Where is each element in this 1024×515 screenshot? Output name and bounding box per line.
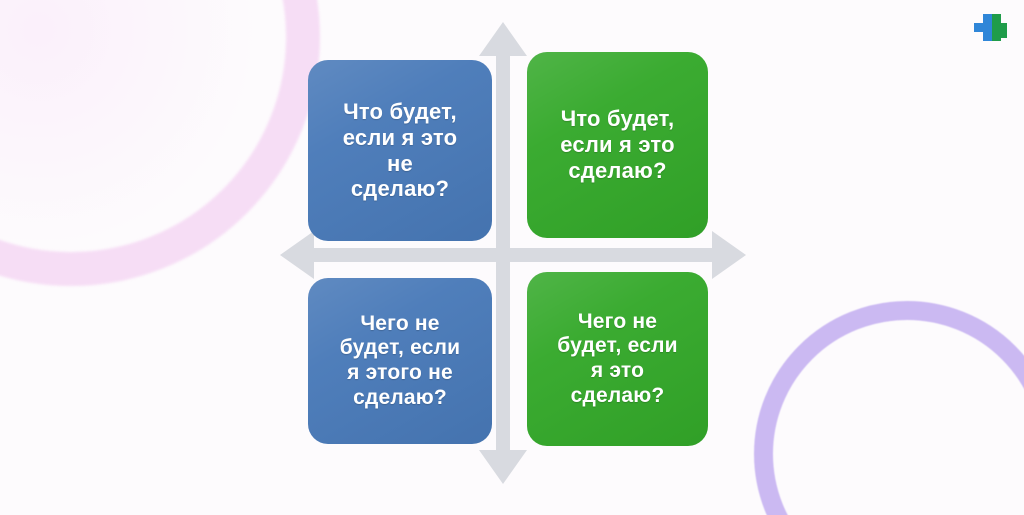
slide-canvas: Что будет, если я это не сделаю? Что буд…: [0, 0, 1024, 515]
decorative-ring-purple: [754, 301, 1024, 515]
background-wash-top-left: [0, 0, 270, 240]
quadrant-card-bottom-left[interactable]: Чего не будет, если я этого не сделаю?: [308, 278, 492, 444]
arrow-left-icon: [280, 231, 314, 279]
quadrant-card-bottom-right[interactable]: Чего не будет, если я это сделаю?: [527, 272, 708, 446]
quadrant-card-top-left[interactable]: Что будет, если я это не сделаю?: [308, 60, 492, 241]
arrow-up-icon: [479, 22, 527, 56]
quadrant-card-bottom-left-text: Чего не будет, если я этого не сделаю?: [318, 312, 482, 410]
arrow-right-icon: [712, 231, 746, 279]
brand-logo-icon: [970, 12, 1010, 48]
quadrant-card-bottom-right-text: Чего не будет, если я это сделаю?: [537, 310, 698, 408]
quadrant-card-top-left-text: Что будет, если я это не сделаю?: [318, 99, 482, 202]
quadrant-card-top-right[interactable]: Что будет, если я это сделаю?: [527, 52, 708, 238]
arrow-down-icon: [479, 450, 527, 484]
quadrant-card-top-right-text: Что будет, если я это сделаю?: [537, 106, 698, 183]
decorative-ring-pink: [0, 0, 320, 286]
